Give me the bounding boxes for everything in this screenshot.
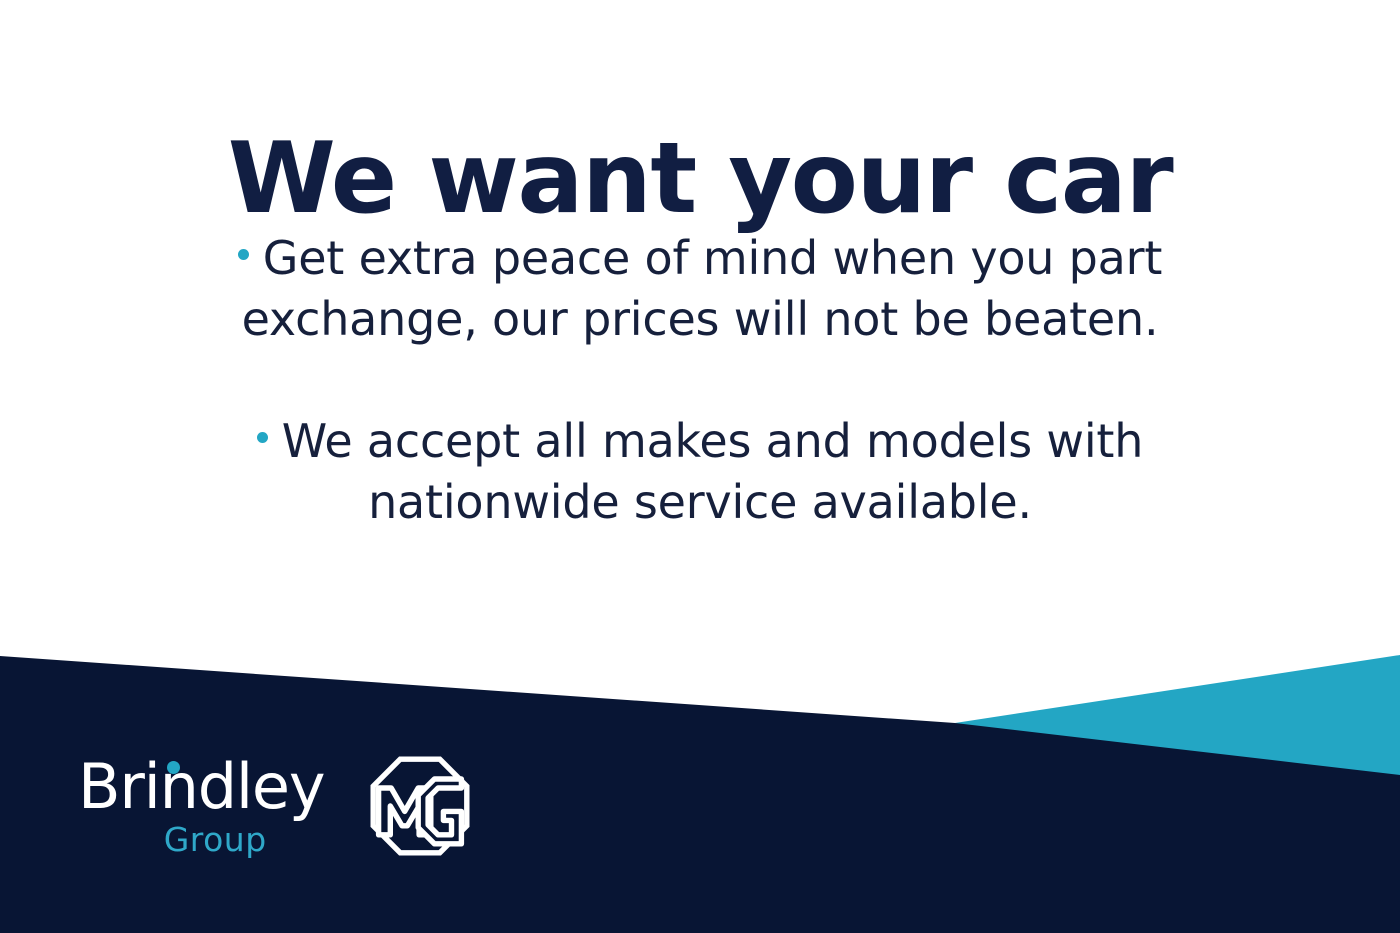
list-item-text: Get extra peace of mind when you part ex… [242, 231, 1163, 346]
teal-dot-icon [167, 761, 180, 774]
bullet-list: Get extra peace of mind when you part ex… [130, 228, 1270, 533]
footer-logo-lockup: Brindley Group [78, 752, 474, 860]
angled-teal-band [955, 655, 1400, 775]
page-title: We want your car [0, 128, 1400, 232]
brindley-group-logo: Brindley Group [78, 754, 324, 858]
list-item-text: We accept all makes and models with nati… [282, 414, 1143, 529]
brindley-wordmark: Brindley [78, 754, 324, 820]
list-item: We accept all makes and models with nati… [130, 411, 1270, 533]
bullet-dot-icon [238, 249, 249, 260]
mg-badge-icon [366, 752, 474, 860]
bullet-dot-icon [257, 432, 268, 443]
list-item: Get extra peace of mind when you part ex… [130, 228, 1270, 350]
slide-canvas: We want your car Get extra peace of mind… [0, 0, 1400, 933]
brindley-subtitle: Group [78, 822, 324, 858]
